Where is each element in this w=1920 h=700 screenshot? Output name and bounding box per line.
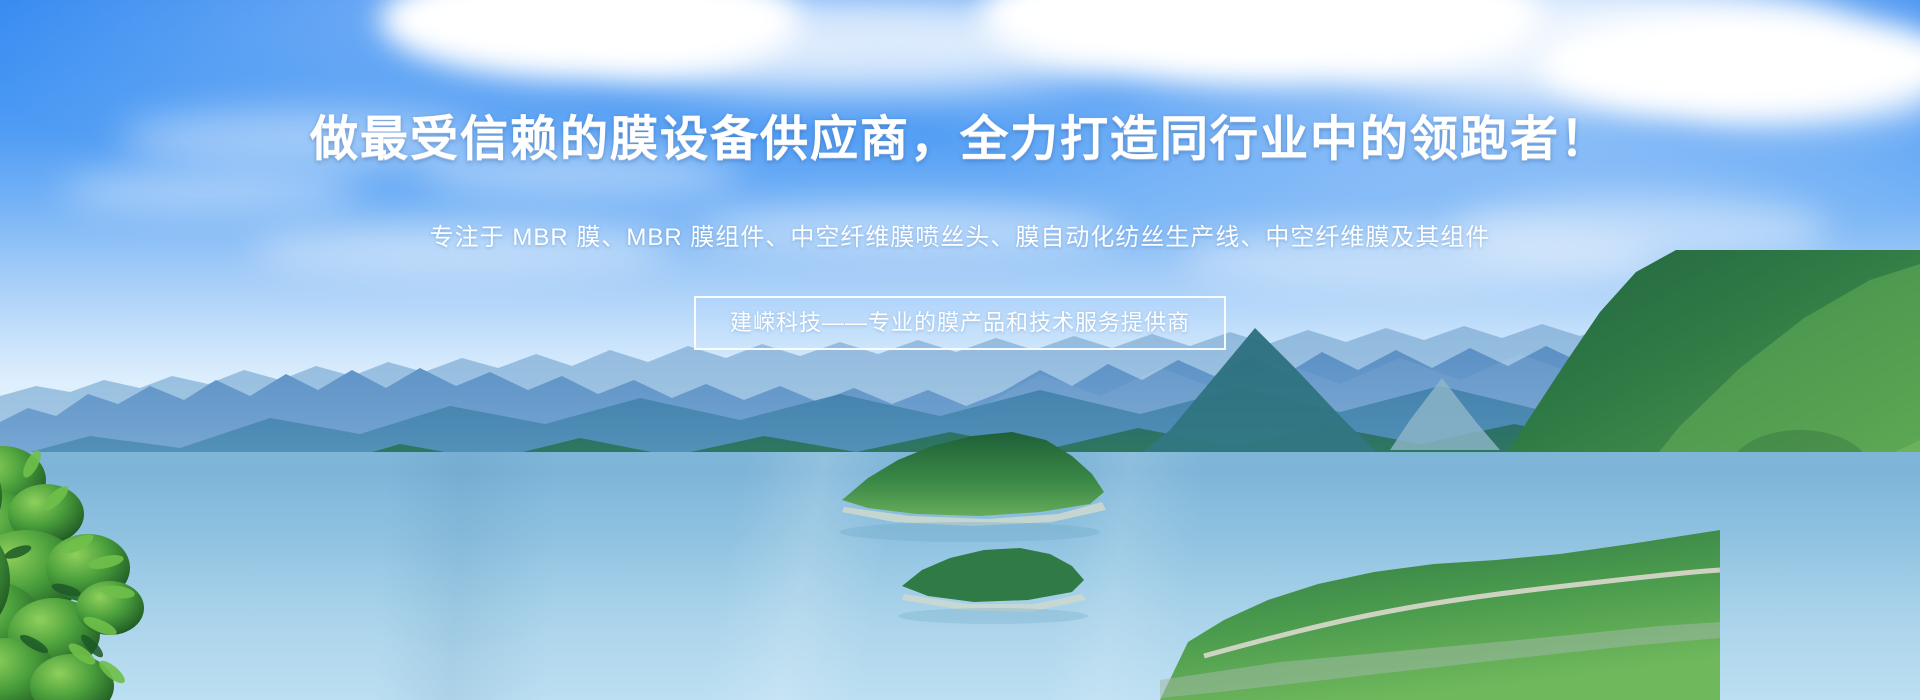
banner-subheadline: 专注于 MBR 膜、MBR 膜组件、中空纤维膜喷丝头、膜自动化纺丝生产线、中空纤… [0,222,1920,254]
banner-copy: 做最受信赖的膜设备供应商，全力打造同行业中的领跑者！ 专注于 MBR 膜、MBR… [0,0,1920,700]
banner-headline: 做最受信赖的膜设备供应商，全力打造同行业中的领跑者！ [0,112,1920,168]
banner-tagline-wrapper: 建嵘科技——专业的膜产品和技术服务提供商 [0,296,1920,350]
banner-tagline-box: 建嵘科技——专业的膜产品和技术服务提供商 [694,296,1226,350]
hero-banner: 做最受信赖的膜设备供应商，全力打造同行业中的领跑者！ 专注于 MBR 膜、MBR… [0,0,1920,700]
